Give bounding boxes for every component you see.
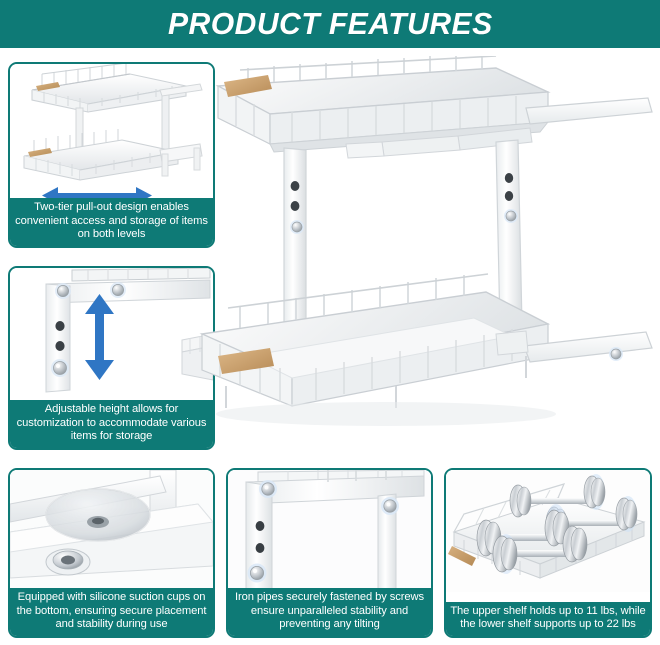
dumbbells-on-shelf-illustration	[446, 470, 650, 592]
wood-handle	[218, 348, 274, 374]
screw	[290, 220, 304, 234]
silicone-suction-cup-closeup	[10, 470, 213, 592]
screw	[51, 359, 69, 377]
feature-panel-two-tier: Two-tier pull-out design enables conveni…	[8, 62, 215, 248]
feature-panel-weight-capacity: The upper shelf holds up to 11 lbs, whil…	[444, 468, 652, 638]
wood-handle	[224, 75, 272, 97]
hero-product-image	[196, 56, 660, 468]
screw	[381, 497, 399, 515]
page-title: PRODUCT FEATURES	[168, 6, 493, 42]
suction-cup-large	[46, 489, 150, 541]
screw	[609, 347, 623, 361]
screw	[259, 480, 277, 498]
panel-caption: Iron pipes securely fastened by screws e…	[228, 588, 431, 636]
panel-caption: The upper shelf holds up to 11 lbs, whil…	[446, 602, 650, 636]
adjustable-height-frame-illustration	[10, 268, 213, 404]
vertical-double-arrow	[85, 294, 114, 380]
suction-cup-small	[46, 549, 90, 575]
two-tier-rack-illustration	[10, 64, 213, 202]
screw	[504, 209, 518, 223]
panel-caption: Equipped with silicone suction cups on t…	[10, 588, 213, 636]
feature-panel-iron-pipes: Iron pipes securely fastened by screws e…	[226, 468, 433, 638]
feature-panel-suction-cups: Equipped with silicone suction cups on t…	[8, 468, 215, 638]
iron-pipe-screw-closeup	[228, 470, 431, 592]
feature-panel-adjustable-height: Adjustable height allows for customizati…	[8, 266, 215, 450]
screw	[55, 283, 71, 299]
screw	[248, 564, 267, 583]
panel-caption: Adjustable height allows for customizati…	[10, 400, 213, 448]
screw	[110, 282, 126, 298]
panel-caption: Two-tier pull-out design enables conveni…	[10, 198, 213, 246]
page-header: PRODUCT FEATURES	[0, 0, 660, 48]
